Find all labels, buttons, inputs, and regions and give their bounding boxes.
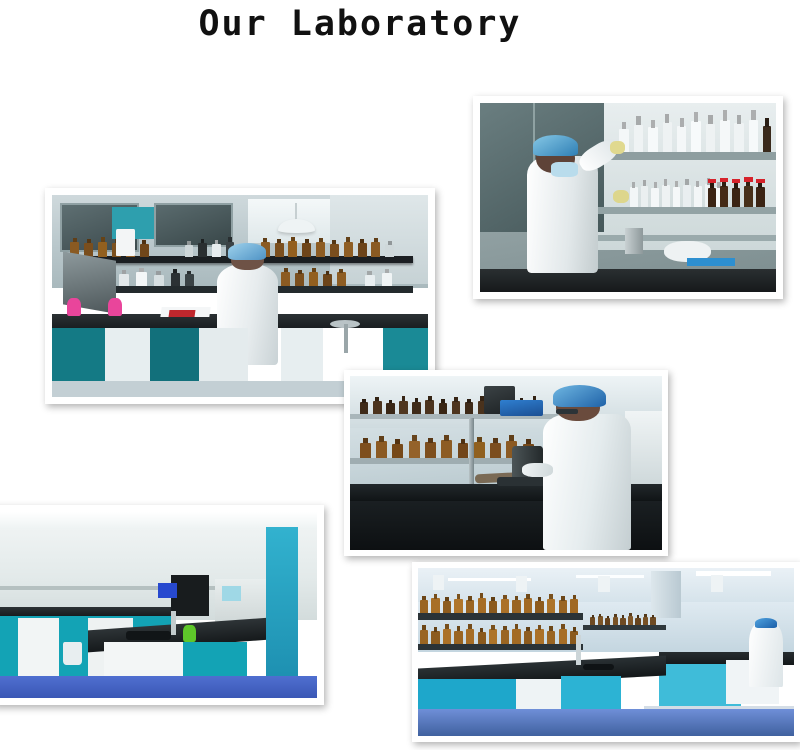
technician-glove-upper (610, 141, 625, 154)
blue-instrument (500, 400, 544, 416)
photo-microscope-analysis-image (350, 376, 662, 550)
pink-spray-bottle-right (108, 298, 122, 316)
steel-canister (625, 228, 643, 254)
bench-top (480, 269, 776, 292)
waste-bin (63, 642, 82, 664)
photo-empty-lab-room[interactable] (0, 505, 324, 705)
red-folder (168, 310, 195, 317)
blue-floor (418, 709, 794, 736)
lab-stool-post (344, 324, 349, 352)
instrument-window (222, 586, 241, 601)
service-drop-3 (598, 576, 609, 591)
service-drop-2 (516, 576, 527, 591)
photo-wide-lab-hall-image (418, 568, 794, 736)
bottle-shelf-upper (418, 613, 583, 620)
faucet (576, 635, 581, 665)
technician-gloved-hands (522, 463, 553, 477)
white-jar (116, 229, 135, 255)
service-drop-4 (711, 575, 722, 592)
bottle-shelf-lower (418, 644, 583, 651)
technician-blue-cap (553, 385, 606, 408)
amber-bottle-row-red-caps (705, 182, 776, 207)
ceiling-light-3 (696, 571, 771, 575)
technician-blue-hair-net (533, 135, 577, 156)
white-bottle-row-top (616, 118, 776, 154)
technician-glove-lower (613, 190, 629, 203)
pendant-lamp (278, 219, 316, 233)
amber-bottle-row-lower (418, 627, 583, 645)
back-cabinet-white-1 (18, 618, 59, 676)
technician-glasses (556, 409, 578, 414)
faucet (171, 611, 176, 635)
technician-blue-cap (755, 618, 778, 628)
photo-shelf-stocking-image (480, 103, 776, 292)
photo-microscope-analysis[interactable] (344, 370, 668, 556)
green-bottle (183, 625, 196, 642)
blue-floor (0, 676, 317, 698)
far-bottle-shelf (583, 625, 666, 630)
photo-wide-lab-hall[interactable] (412, 562, 800, 742)
structural-column (651, 571, 681, 618)
amber-bottle-row-middle (356, 439, 537, 460)
photo-lab-bench-worker-image (52, 195, 428, 397)
technician-blue-cap (228, 243, 266, 259)
pink-spray-bottle-left (67, 298, 81, 316)
technician-lab-coat (543, 414, 630, 550)
shelf-rail-2 (598, 207, 776, 215)
blue-tray (687, 258, 734, 266)
photo-empty-lab-room-image (0, 512, 317, 698)
shelf-rail-1 (598, 152, 776, 160)
sink-basin (126, 631, 171, 640)
amber-bottle-row-upper (418, 597, 583, 615)
laboratory-page: Our Laboratory (0, 0, 800, 750)
photo-shelf-stocking[interactable] (473, 96, 783, 299)
service-drop-1 (433, 575, 444, 590)
technician-lab-coat (749, 623, 783, 687)
teal-door-frame (266, 527, 298, 683)
ceiling-light-2 (576, 575, 644, 578)
page-title: Our Laboratory (0, 4, 720, 44)
technician-face-mask (551, 162, 578, 177)
stand-rod (469, 418, 474, 488)
sink-basin (583, 664, 613, 671)
blue-figure (158, 583, 177, 598)
back-bench-top (0, 607, 171, 616)
